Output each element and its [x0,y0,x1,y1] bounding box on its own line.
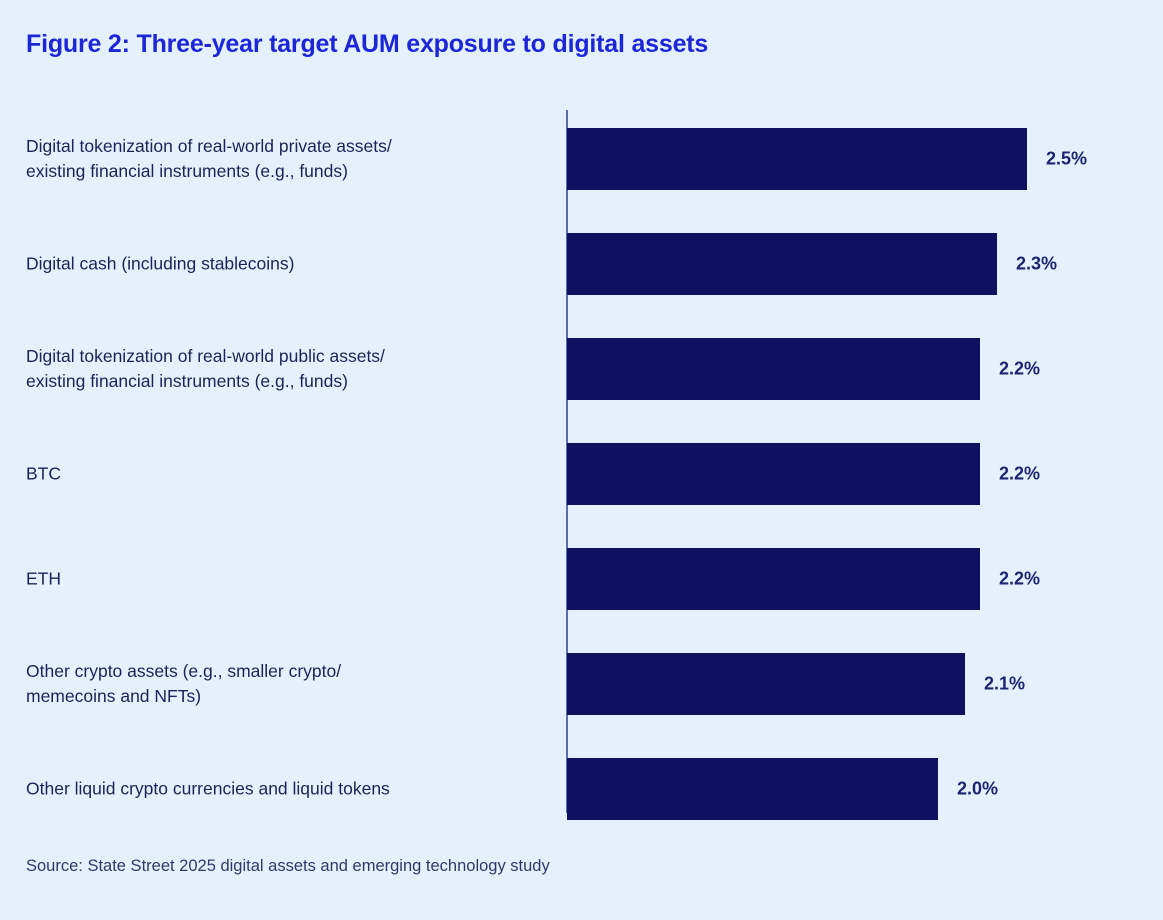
bar-category-label: Digital tokenization of real-world publi… [26,344,550,394]
bar-row: Other crypto assets (e.g., smaller crypt… [0,653,1163,715]
bar-value-label: 2.2% [999,569,1040,590]
bar-category-label: Other liquid crypto currencies and liqui… [26,777,550,802]
bar-value-label: 2.5% [1046,149,1087,170]
bar-rect [567,128,1027,190]
bar-row: Digital tokenization of real-world priva… [0,128,1163,190]
bar-category-label: Digital cash (including stablecoins) [26,252,550,277]
bar-row: Digital tokenization of real-world publi… [0,338,1163,400]
bar-row: Digital cash (including stablecoins)2.3% [0,233,1163,295]
bar-rect [567,758,938,820]
bar-category-label: ETH [26,567,550,592]
bar-rect [567,548,980,610]
bar-row: Other liquid crypto currencies and liqui… [0,758,1163,820]
bar-value-label: 2.0% [957,779,998,800]
bar-row: BTC2.2% [0,443,1163,505]
bar-rect [567,338,980,400]
figure-container: Figure 2: Three-year target AUM exposure… [0,0,1163,920]
bar-category-label: BTC [26,462,550,487]
bar-rect [567,233,997,295]
bar-value-label: 2.3% [1016,254,1057,275]
bar-rect [567,653,965,715]
bar-value-label: 2.1% [984,674,1025,695]
figure-title: Figure 2: Three-year target AUM exposure… [26,30,708,59]
plot-area: Digital tokenization of real-world priva… [0,110,1163,813]
source-note: Source: State Street 2025 digital assets… [26,857,550,876]
bar-category-label: Other crypto assets (e.g., smaller crypt… [26,659,550,709]
bar-value-label: 2.2% [999,464,1040,485]
bar-value-label: 2.2% [999,359,1040,380]
bar-category-label: Digital tokenization of real-world priva… [26,134,550,184]
bar-rect [567,443,980,505]
bar-row: ETH2.2% [0,548,1163,610]
